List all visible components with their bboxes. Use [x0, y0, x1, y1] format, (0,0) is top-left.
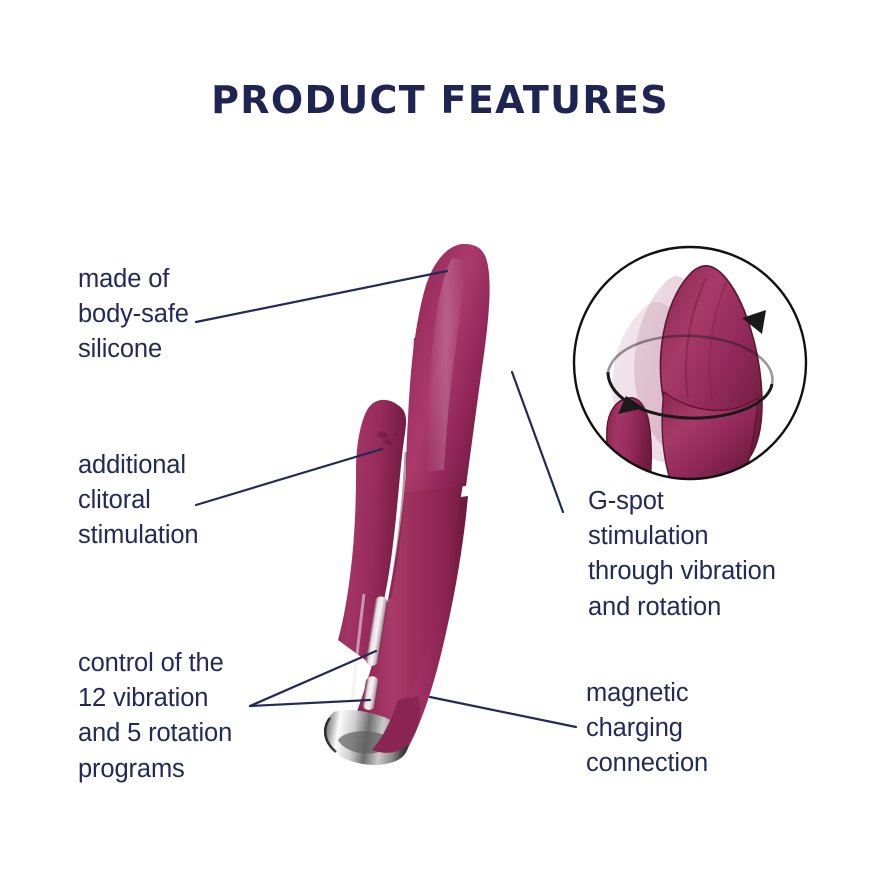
callout-made-of-body-safe-silicone: made of body-safe silicone	[78, 262, 189, 368]
callout-magnetic-charging-connection: magnetic charging connection	[586, 676, 708, 782]
product-body	[324, 244, 490, 765]
infographic-canvas: PRODUCT FEATURES	[0, 0, 880, 880]
rotation-detail-circle	[570, 243, 810, 483]
callout-control-of-vibration-rotation-programs: control of the 12 vibration and 5 rotati…	[78, 646, 232, 787]
callout-g-spot-stimulation: G-spot stimulation through vibration and…	[588, 484, 776, 625]
callout-additional-clitoral-stimulation: additional clitoral stimulation	[78, 448, 198, 554]
